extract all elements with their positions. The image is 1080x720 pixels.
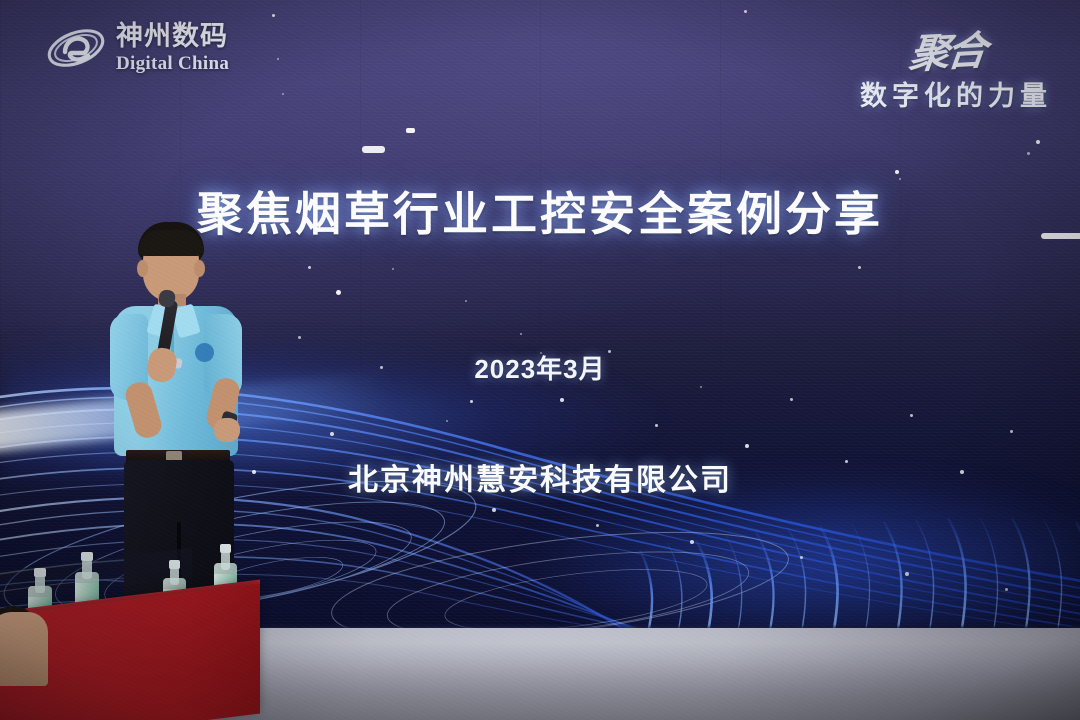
speaker-hair-front (139, 230, 203, 256)
campaign-logo: 聚合 数字化的力量 (860, 20, 1052, 113)
speaker-ear-right (194, 260, 205, 277)
speaker-shirt-logo (195, 343, 214, 362)
brand-wordmark: 神州数码 Digital China (116, 23, 229, 73)
conference-photo: 聚焦烟草行业工控安全案例分享 2023年3月 北京神州慧安科技有限公司 神州数码… (0, 0, 1080, 720)
campaign-brush-text: 聚合 (907, 18, 988, 80)
digital-china-logo: 神州数码 Digital China (45, 22, 229, 74)
seated-person (0, 612, 48, 686)
campaign-subtitle: 数字化的力量 (860, 74, 1052, 113)
spiral-e-icon (45, 22, 107, 74)
brand-name-en: Digital China (116, 54, 229, 73)
speaker-hand-right (214, 418, 240, 442)
brand-name-cn: 神州数码 (116, 23, 229, 50)
speaker-ear-left (137, 260, 148, 277)
